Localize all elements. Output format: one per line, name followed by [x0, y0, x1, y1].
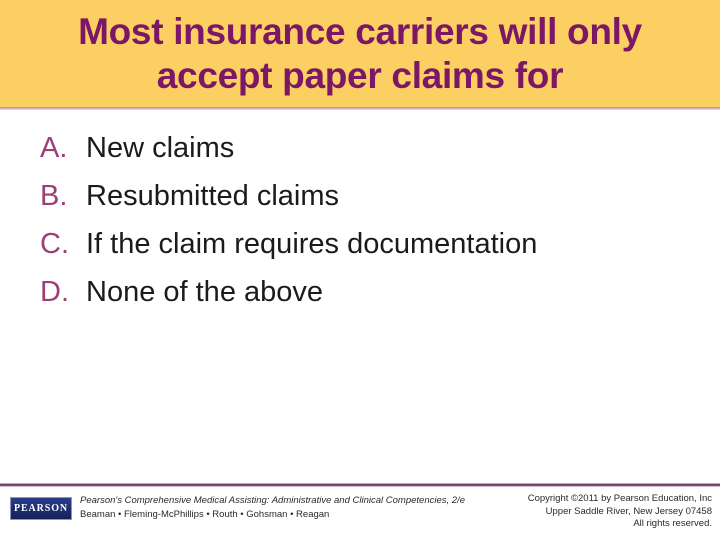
- slide-title-line-2: accept paper claims for: [10, 54, 710, 98]
- pearson-logo: PEARSON: [10, 497, 72, 520]
- answer-choice-a[interactable]: A. New claims: [40, 131, 680, 179]
- answer-letter-c: C.: [40, 227, 86, 261]
- copyright-line-1: Copyright ©2011 by Pearson Education, In…: [452, 493, 712, 506]
- answer-text-d: None of the above: [86, 275, 680, 309]
- footer-book-info: Pearson's Comprehensive Medical Assistin…: [80, 494, 480, 522]
- answer-choice-d[interactable]: D. None of the above: [40, 275, 680, 323]
- answer-choice-b[interactable]: B. Resubmitted claims: [40, 179, 680, 227]
- slide-footer: PEARSON Pearson's Comprehensive Medical …: [0, 491, 720, 539]
- slide: Most insurance carriers will only accept…: [0, 0, 720, 539]
- copyright-line-2: Upper Saddle River, New Jersey 07458: [452, 506, 712, 519]
- copyright-line-3: All rights reserved.: [452, 518, 712, 531]
- book-title: Pearson's Comprehensive Medical Assistin…: [80, 494, 480, 508]
- slide-title-line-1: Most insurance carriers will only: [10, 10, 710, 54]
- answer-text-a: New claims: [86, 131, 680, 165]
- answer-letter-d: D.: [40, 275, 86, 309]
- book-authors: Beaman • Fleming-McPhillips • Routh • Go…: [80, 508, 480, 522]
- pearson-logo-text: PEARSON: [14, 503, 68, 514]
- answer-letter-b: B.: [40, 179, 86, 213]
- answer-text-b: Resubmitted claims: [86, 179, 680, 213]
- title-banner: Most insurance carriers will only accept…: [0, 0, 720, 107]
- footer-divider: [0, 483, 720, 487]
- answer-choice-c[interactable]: C. If the claim requires documentation: [40, 227, 680, 275]
- title-banner-divider: [0, 107, 720, 110]
- answer-choice-list: A. New claims B. Resubmitted claims C. I…: [40, 131, 680, 323]
- answer-letter-a: A.: [40, 131, 86, 165]
- footer-copyright: Copyright ©2011 by Pearson Education, In…: [452, 493, 712, 531]
- answer-text-c: If the claim requires documentation: [86, 227, 680, 261]
